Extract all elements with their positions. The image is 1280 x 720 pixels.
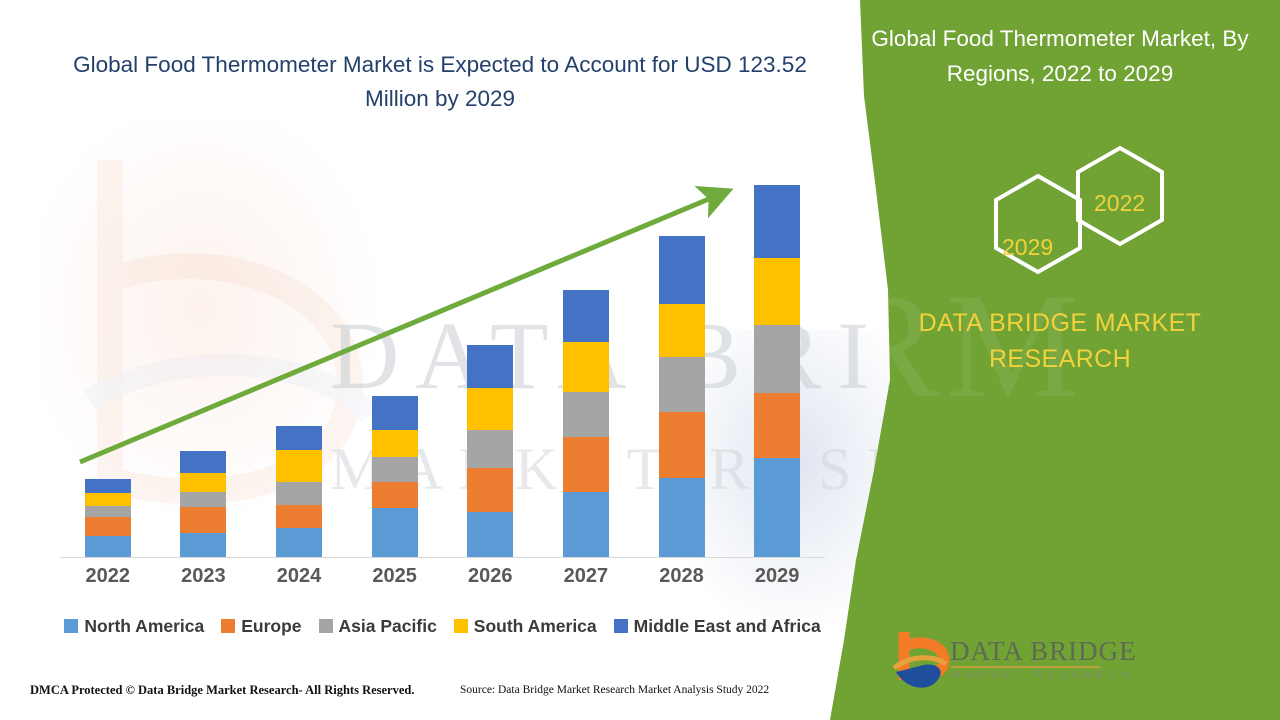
bar-segment[interactable]	[467, 430, 513, 468]
legend-item[interactable]: Europe	[221, 616, 301, 637]
x-axis-labels: 20222023202420252026202720282029	[60, 565, 825, 599]
green-side-panel: RM Global Food Thermometer Market, By Re…	[830, 0, 1280, 720]
legend-swatch-icon	[64, 619, 78, 633]
bar-segment[interactable]	[180, 451, 226, 473]
hexagon-2029-label: 2029	[1002, 234, 1053, 261]
bar-segment[interactable]	[563, 342, 609, 392]
hexagon-group: 2022 2029	[970, 128, 1190, 288]
bar-segment[interactable]	[467, 388, 513, 430]
bar-segment[interactable]	[659, 357, 705, 412]
legend-label: Asia Pacific	[339, 616, 437, 637]
panel-title: Global Food Thermometer Market, By Regio…	[860, 22, 1260, 92]
x-axis-label: 2028	[634, 565, 730, 588]
bar-segment[interactable]	[85, 536, 131, 557]
bar-segment[interactable]	[563, 492, 609, 557]
legend-label: Europe	[241, 616, 301, 637]
hexagon-2022-label: 2022	[1094, 190, 1145, 217]
logo-divider	[950, 666, 1100, 668]
x-axis-label: 2022	[60, 565, 156, 588]
legend-item[interactable]: South America	[454, 616, 597, 637]
panel-brand-line1: DATA BRIDGE MARKET	[860, 305, 1260, 341]
legend-label: South America	[474, 616, 597, 637]
stacked-bar[interactable]	[563, 290, 609, 557]
bar-segment[interactable]	[85, 506, 131, 517]
stacked-bar[interactable]	[659, 236, 705, 557]
x-axis-label: 2029	[729, 565, 825, 588]
bar-segment[interactable]	[372, 457, 418, 482]
logo-name: DATA BRIDGE	[950, 636, 1137, 667]
bar-segment[interactable]	[372, 482, 418, 508]
legend-label: Middle East and Africa	[634, 616, 821, 637]
legend-item[interactable]: Asia Pacific	[319, 616, 437, 637]
chart-plot-area	[0, 0, 880, 620]
bar-segment[interactable]	[467, 345, 513, 388]
logo-tagline: MARKET RESEARCH	[952, 670, 1134, 681]
bar-segment[interactable]	[180, 507, 226, 533]
footer-copyright: DMCA Protected © Data Bridge Market Rese…	[30, 683, 415, 698]
bar-segment[interactable]	[372, 430, 418, 457]
bar-segment[interactable]	[180, 492, 226, 507]
bar-segment[interactable]	[754, 325, 800, 393]
legend-swatch-icon	[614, 619, 628, 633]
bar-segment[interactable]	[276, 505, 322, 528]
bar-group	[60, 140, 156, 557]
x-axis-line	[60, 557, 825, 558]
bar-segment[interactable]	[372, 508, 418, 557]
stacked-bar[interactable]	[276, 426, 322, 557]
bar-segment[interactable]	[85, 479, 131, 493]
bar-segment[interactable]	[659, 304, 705, 358]
bar-segment[interactable]	[467, 512, 513, 557]
x-axis-label: 2025	[347, 565, 443, 588]
bar-segment[interactable]	[180, 473, 226, 492]
legend-swatch-icon	[221, 619, 235, 633]
bar-segment[interactable]	[754, 185, 800, 258]
bar-group	[634, 140, 730, 557]
legend-item[interactable]: North America	[64, 616, 204, 637]
bar-segment[interactable]	[754, 258, 800, 325]
bar-group	[347, 140, 443, 557]
bar-segment[interactable]	[754, 393, 800, 458]
stacked-bar[interactable]	[372, 396, 418, 557]
bar-group	[538, 140, 634, 557]
legend-swatch-icon	[319, 619, 333, 633]
bar-group	[156, 140, 252, 557]
stacked-bars	[60, 140, 825, 557]
stacked-bar[interactable]	[85, 479, 131, 557]
legend-item[interactable]: Middle East and Africa	[614, 616, 821, 637]
data-bridge-logo: DATA BRIDGE MARKET RESEARCH	[890, 628, 1120, 700]
bar-segment[interactable]	[563, 437, 609, 492]
stacked-bar[interactable]	[180, 451, 226, 557]
x-axis-label: 2024	[251, 565, 347, 588]
stacked-bar[interactable]	[467, 345, 513, 557]
bar-segment[interactable]	[276, 450, 322, 482]
bar-segment[interactable]	[276, 528, 322, 557]
bar-group	[729, 140, 825, 557]
x-axis-label: 2026	[443, 565, 539, 588]
bar-segment[interactable]	[85, 493, 131, 506]
x-axis-label: 2027	[538, 565, 634, 588]
bar-segment[interactable]	[659, 478, 705, 557]
bar-segment[interactable]	[563, 392, 609, 437]
bar-segment[interactable]	[372, 396, 418, 430]
bar-group	[251, 140, 347, 557]
bar-segment[interactable]	[85, 517, 131, 536]
bar-segment[interactable]	[276, 426, 322, 450]
bar-segment[interactable]	[180, 533, 226, 557]
bar-segment[interactable]	[276, 482, 322, 505]
legend-label: North America	[84, 616, 204, 637]
panel-brand-line2: RESEARCH	[860, 341, 1260, 377]
bar-segment[interactable]	[659, 412, 705, 478]
panel-brand: DATA BRIDGE MARKET RESEARCH	[860, 305, 1260, 378]
bar-segment[interactable]	[754, 458, 800, 557]
bar-group	[443, 140, 539, 557]
legend-swatch-icon	[454, 619, 468, 633]
footer-source: Source: Data Bridge Market Research Mark…	[460, 684, 769, 696]
chart-legend: North AmericaEuropeAsia PacificSouth Ame…	[60, 612, 825, 640]
bar-segment[interactable]	[467, 468, 513, 512]
x-axis-label: 2023	[156, 565, 252, 588]
bar-segment[interactable]	[563, 290, 609, 342]
bar-segment[interactable]	[659, 236, 705, 303]
infographic-canvas: DATA BRIDGE MARKET RESEARCH Global Food …	[0, 0, 1280, 720]
stacked-bar[interactable]	[754, 185, 800, 557]
